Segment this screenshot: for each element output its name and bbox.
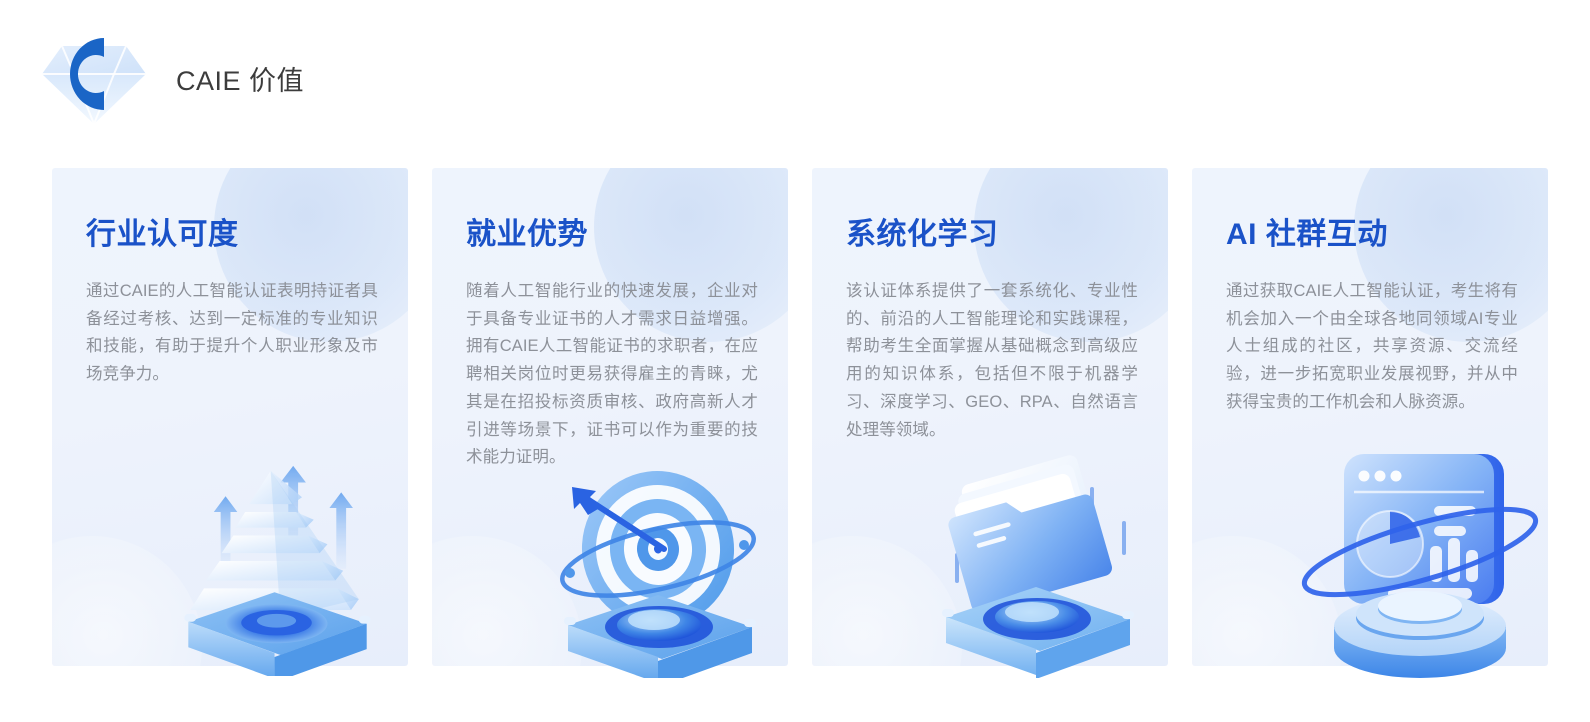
value-card-systematic-learning[interactable]: 系统化学习 该认证体系提供了一套系统化、专业性的、前沿的人工智能理论和实践课程，… xyxy=(812,168,1168,666)
decorative-glow-icon xyxy=(432,536,582,666)
card-title: AI 社群互动 xyxy=(1226,218,1388,251)
card-body-text: 通过获取CAIE人工智能认证，考生将有机会加入一个由全球各地同领域AI专业人士组… xyxy=(1226,278,1518,417)
caie-diamond-c-logo-icon xyxy=(34,28,154,128)
page-title: CAIE 价值 xyxy=(176,62,304,95)
value-cards-row: 行业认可度 通过CAIE的人工智能认证表明持证者具备经过考核、达到一定标准的专业… xyxy=(52,168,1558,668)
card-body-text: 随着人工智能行业的快速发展，企业对于具备专业证书的人才需求日益增强。拥有CAIE… xyxy=(466,278,758,472)
caie-value-section: CAIE 价值 行业认可度 通过CAIE的人工智能认证表明持证者具备经过考核、达… xyxy=(0,0,1590,722)
card-body-text: 该认证体系提供了一套系统化、专业性的、前沿的人工智能理论和实践课程，帮助考生全面… xyxy=(846,278,1138,444)
card-title: 行业认可度 xyxy=(86,218,239,251)
card-title: 系统化学习 xyxy=(846,218,999,251)
decorative-glow-icon xyxy=(1192,536,1342,666)
value-card-employment-advantage[interactable]: 就业优势 随着人工智能行业的快速发展，企业对于具备专业证书的人才需求日益增强。拥… xyxy=(432,168,788,666)
decorative-glow-icon xyxy=(812,536,962,666)
value-card-industry-recognition[interactable]: 行业认可度 通过CAIE的人工智能认证表明持证者具备经过考核、达到一定标准的专业… xyxy=(52,168,408,666)
section-header: CAIE 价值 xyxy=(34,28,304,128)
card-title: 就业优势 xyxy=(466,218,588,251)
card-body-text: 通过CAIE的人工智能认证表明持证者具备经过考核、达到一定标准的专业知识和技能，… xyxy=(86,278,378,389)
value-card-ai-community[interactable]: AI 社群互动 通过获取CAIE人工智能认证，考生将有机会加入一个由全球各地同领… xyxy=(1192,168,1548,666)
decorative-glow-icon xyxy=(52,536,202,666)
